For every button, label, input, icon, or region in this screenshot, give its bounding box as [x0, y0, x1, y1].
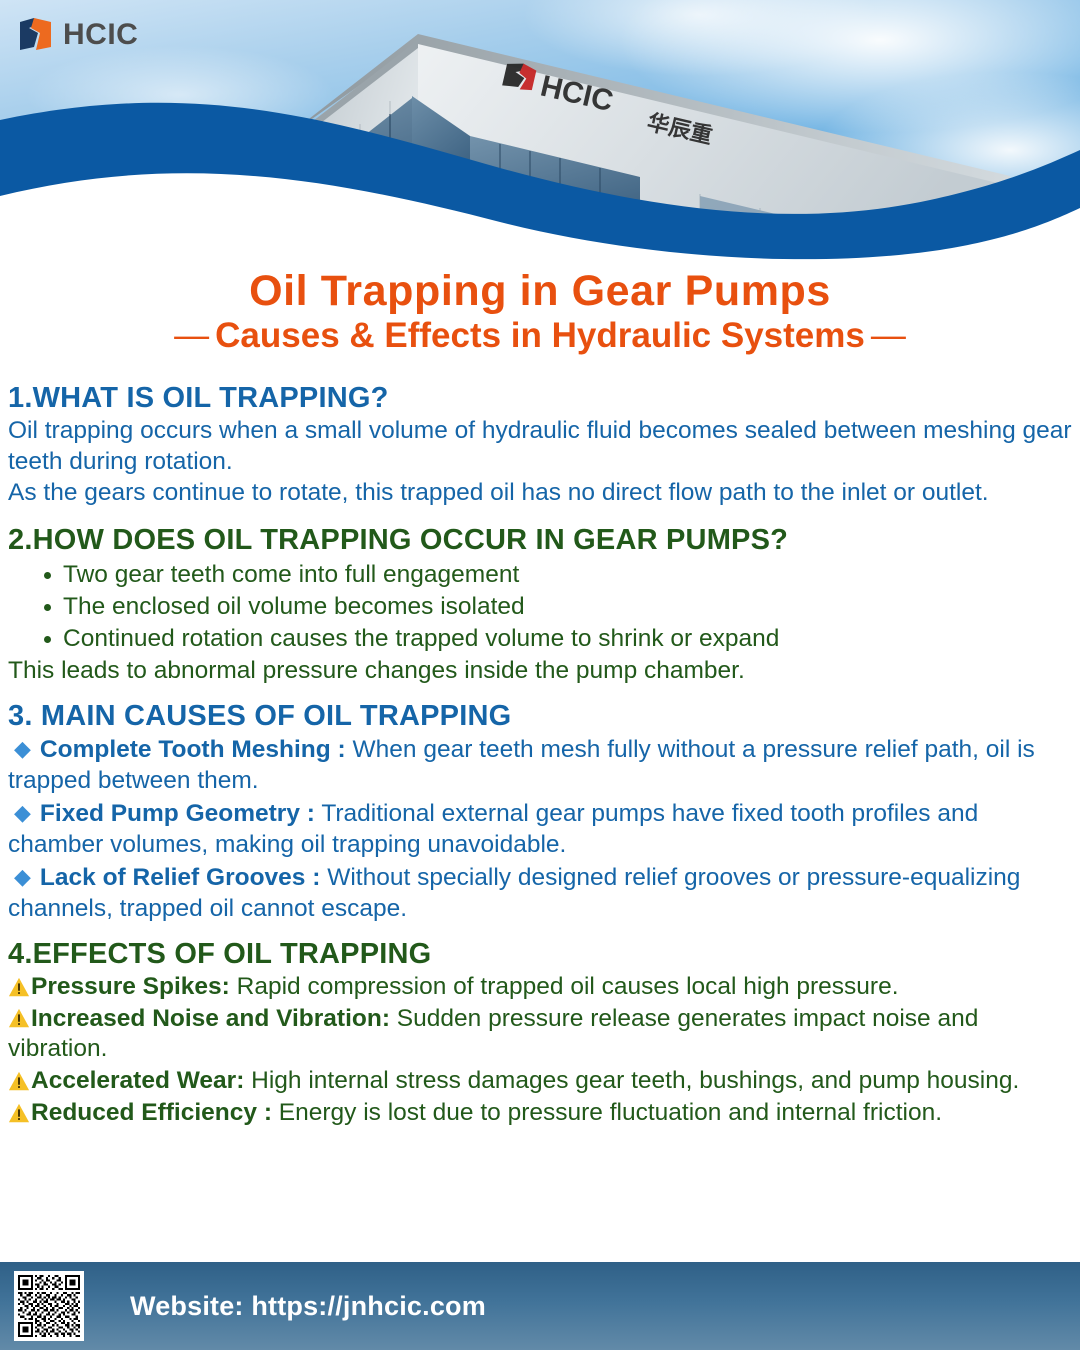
- content-area: 1.WHAT IS OIL TRAPPING? Oil trapping occ…: [0, 381, 1080, 1133]
- effect-4-term: Reduced Efficiency :: [31, 1099, 272, 1126]
- section-2-bullet-2: The enclosed oil volume becomes isolated: [63, 593, 525, 620]
- effect-2-term: Increased Noise and Vibration:: [31, 1005, 390, 1032]
- poster-title-block: Oil Trapping in Gear Pumps —Causes & Eff…: [0, 268, 1080, 357]
- qr-code[interactable]: [14, 1271, 84, 1341]
- cause-1-separator: :: [338, 736, 346, 763]
- section-2-heading: 2.HOW DOES OIL TRAPPING OCCUR IN GEAR PU…: [8, 523, 1072, 557]
- section-4-heading: 4.EFFECTS OF OIL TRAPPING: [8, 937, 1072, 971]
- effect-1-term: Pressure Spikes:: [31, 973, 230, 1000]
- section-2-bullet-list: Two gear teeth come into full engagement…: [8, 559, 1072, 655]
- diamond-bullet-icon: ◆: [8, 864, 40, 889]
- cause-item: ◆Fixed Pump Geometry : Traditional exter…: [8, 799, 1072, 861]
- poster-subtitle: —Causes & Effects in Hydraulic Systems—: [0, 316, 1080, 356]
- bullet-dot-icon: [44, 572, 51, 579]
- list-item: The enclosed oil volume becomes isolated: [8, 591, 1072, 623]
- hcic-logo-mark-icon: [18, 16, 54, 54]
- hero-banner: HCIC 华辰重 HCIC: [0, 0, 1080, 262]
- section-3-heading: 3. MAIN CAUSES OF OIL TRAPPING: [8, 699, 1072, 733]
- dash-left: —: [168, 316, 215, 355]
- warning-triangle-icon: [8, 977, 30, 997]
- hcic-logo[interactable]: HCIC: [18, 16, 138, 54]
- section-1-paragraph-2: As the gears continue to rotate, this tr…: [8, 478, 1072, 509]
- effect-3-term: Accelerated Wear:: [31, 1067, 244, 1094]
- cause-1-term: Complete Tooth Meshing: [40, 736, 331, 763]
- cause-2-separator: :: [307, 800, 315, 827]
- section-effects-of-oil-trapping: 4.EFFECTS OF OIL TRAPPING Pressure Spike…: [8, 937, 1072, 1130]
- cause-item: ◆Complete Tooth Meshing : When gear teet…: [8, 735, 1072, 797]
- effect-1-desc: Rapid compression of trapped oil causes …: [237, 973, 899, 1000]
- section-2-tail-text: This leads to abnormal pressure changes …: [8, 656, 1072, 687]
- footer-bar: Website: https://jnhcic.com: [0, 1262, 1080, 1350]
- section-2-bullet-3: Continued rotation causes the trapped vo…: [63, 625, 779, 652]
- diamond-bullet-icon: ◆: [8, 736, 40, 761]
- hcic-logo-text: HCIC: [63, 20, 138, 50]
- effect-4-desc: Energy is lost due to pressure fluctuati…: [279, 1099, 942, 1126]
- warning-triangle-icon: [8, 1103, 30, 1123]
- infographic-page: HCIC 华辰重 HCIC Oil Trapping in Gear Pumps…: [0, 0, 1080, 1350]
- list-item: Continued rotation causes the trapped vo…: [8, 623, 1072, 655]
- section-how-does-oil-trapping-occur: 2.HOW DOES OIL TRAPPING OCCUR IN GEAR PU…: [8, 523, 1072, 687]
- blue-wave-overlay: [0, 0, 1080, 262]
- effect-item: Reduced Efficiency : Energy is lost due …: [8, 1098, 1072, 1129]
- warning-triangle-icon: [8, 1008, 30, 1028]
- effect-item: Accelerated Wear: High internal stress d…: [8, 1066, 1072, 1097]
- section-what-is-oil-trapping: 1.WHAT IS OIL TRAPPING? Oil trapping occ…: [8, 381, 1072, 509]
- list-item: Two gear teeth come into full engagement: [8, 559, 1072, 591]
- cause-3-separator: :: [312, 864, 320, 891]
- website-label[interactable]: Website: https://jnhcic.com: [130, 1291, 486, 1322]
- cause-item: ◆Lack of Relief Grooves : Without specia…: [8, 863, 1072, 925]
- section-main-causes-of-oil-trapping: 3. MAIN CAUSES OF OIL TRAPPING ◆Complete…: [8, 699, 1072, 924]
- cause-2-term: Fixed Pump Geometry: [40, 800, 300, 827]
- warning-triangle-icon: [8, 1071, 30, 1091]
- cause-3-term: Lack of Relief Grooves: [40, 864, 306, 891]
- section-1-paragraph-1: Oil trapping occurs when a small volume …: [8, 416, 1072, 478]
- diamond-bullet-icon: ◆: [8, 800, 40, 825]
- bullet-dot-icon: [44, 636, 51, 643]
- qr-code-icon: [18, 1275, 80, 1337]
- poster-title: Oil Trapping in Gear Pumps: [0, 268, 1080, 314]
- dash-right: —: [865, 316, 912, 355]
- effect-3-desc: High internal stress damages gear teeth,…: [251, 1067, 1019, 1094]
- effect-item: Increased Noise and Vibration: Sudden pr…: [8, 1004, 1072, 1066]
- section-2-bullet-1: Two gear teeth come into full engagement: [63, 561, 519, 588]
- bullet-dot-icon: [44, 604, 51, 611]
- section-1-heading: 1.WHAT IS OIL TRAPPING?: [8, 381, 1072, 415]
- poster-subtitle-text: Causes & Effects in Hydraulic Systems: [215, 316, 865, 355]
- effect-item: Pressure Spikes: Rapid compression of tr…: [8, 972, 1072, 1003]
